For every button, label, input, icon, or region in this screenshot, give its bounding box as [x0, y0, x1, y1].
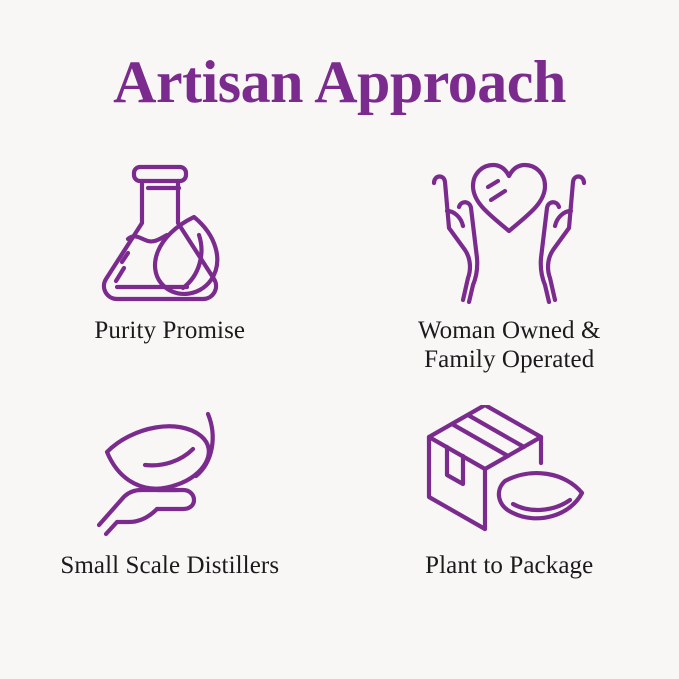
right-hand-group: [541, 176, 584, 302]
box-leaf-icon: [423, 400, 595, 545]
feature-label: Plant to Package: [425, 551, 593, 580]
feature-item-small-scale-distillers[interactable]: Small Scale Distillers: [0, 400, 340, 650]
feature-label: Woman Owned & Family Operated: [418, 316, 601, 374]
page-title: Artisan Approach: [0, 46, 679, 118]
feature-item-purity-promise[interactable]: Purity Promise: [0, 150, 340, 400]
hand-leaf-icon: [95, 400, 245, 545]
feature-item-plant-to-package[interactable]: Plant to Package: [340, 400, 679, 650]
feature-item-woman-owned[interactable]: Woman Owned & Family Operated: [340, 150, 679, 400]
feature-grid: Purity Promise: [0, 150, 679, 650]
feature-label: Purity Promise: [94, 316, 245, 345]
feature-label: Small Scale Distillers: [60, 551, 279, 580]
flask-leaf-icon: [90, 150, 250, 310]
artisan-approach-panel: Artisan Approach: [0, 0, 679, 679]
hands-heart-icon: [420, 150, 598, 310]
